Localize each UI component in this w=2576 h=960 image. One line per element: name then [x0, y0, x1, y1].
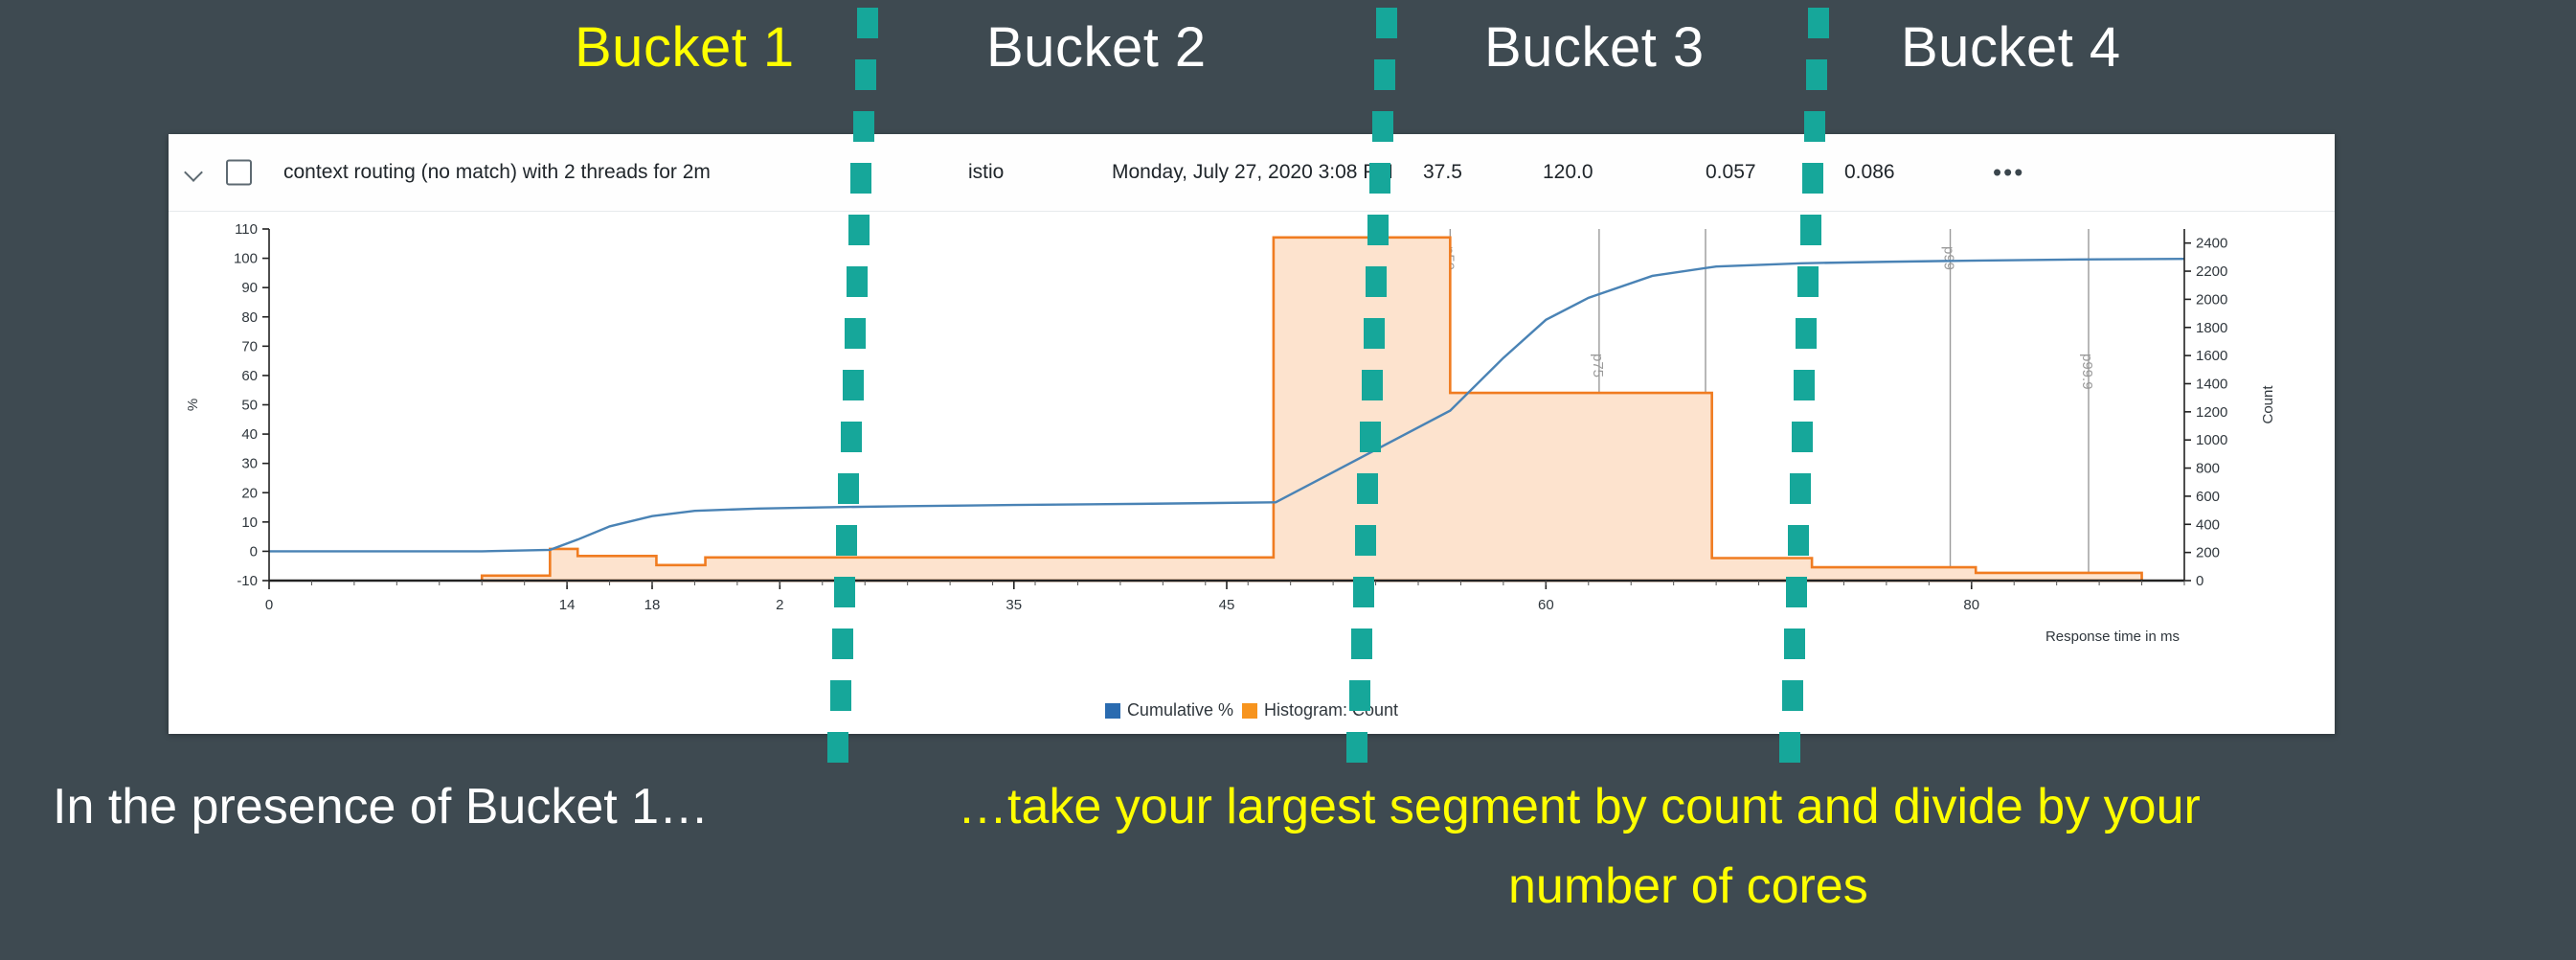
metric-value-3: 0.057 — [1706, 161, 1756, 184]
y-tick-label-left: 100 — [234, 251, 258, 267]
run-tag: istio — [968, 161, 1004, 184]
bucket-label-2: Bucket 2 — [986, 15, 1207, 80]
y-tick-label-right: 400 — [2196, 516, 2220, 533]
y-tick-label-right: 1200 — [2196, 404, 2227, 421]
y-tick-label-right: 2200 — [2196, 263, 2227, 280]
x-tick-label: 18 — [644, 597, 661, 613]
legend-label-cumulative: Cumulative % — [1127, 700, 1233, 720]
percentile-label: p99.9 — [2079, 354, 2095, 390]
x-tick-label: 80 — [1963, 597, 1979, 613]
bucket-label-4: Bucket 4 — [1901, 15, 2121, 80]
y-tick-label-left: 30 — [241, 456, 258, 472]
y-tick-label-left: 60 — [241, 368, 258, 384]
y-tick-label-right: 800 — [2196, 461, 2220, 477]
y-tick-label-left: 0 — [250, 543, 258, 560]
y-axis-title-right: Count — [2260, 385, 2276, 424]
chart-legend: Cumulative % Histogram: Count — [169, 700, 2335, 720]
y-tick-label-left: -10 — [237, 573, 258, 589]
y-tick-label-left: 40 — [241, 426, 258, 443]
chevron-down-icon[interactable] — [185, 162, 206, 183]
x-axis-title: Response time in ms — [2045, 629, 2180, 645]
histogram-area — [482, 238, 2141, 581]
legend-item-histogram: Histogram: Count — [1242, 700, 1398, 720]
legend-swatch-histogram — [1242, 703, 1257, 719]
y-tick-label-right: 200 — [2196, 545, 2220, 561]
y-tick-label-left: 50 — [241, 398, 258, 414]
y-tick-label-left: 90 — [241, 280, 258, 296]
percentile-label: p99 — [1941, 246, 1957, 270]
metric-value-1: 37.5 — [1423, 161, 1462, 184]
x-tick-label: 0 — [265, 597, 273, 613]
legend-swatch-cumulative — [1105, 703, 1120, 719]
table-row[interactable]: context routing (no match) with 2 thread… — [169, 134, 2335, 212]
divider-dash — [827, 732, 848, 763]
caption-right-1: …take your largest segment by count and … — [958, 778, 2201, 835]
legend-label-histogram: Histogram: Count — [1264, 700, 1398, 720]
caption-right-2: number of cores — [1508, 857, 1868, 915]
y-tick-label-right: 1400 — [2196, 376, 2227, 392]
y-tick-label-right: 600 — [2196, 489, 2220, 505]
divider-dash — [1779, 732, 1800, 763]
metric-value-2: 120.0 — [1543, 161, 1593, 184]
row-overflow-menu-icon[interactable]: ••• — [1993, 158, 2024, 188]
x-tick-label: 2 — [776, 597, 783, 613]
y-axis-title-left: % — [185, 399, 201, 411]
caption-left: In the presence of Bucket 1… — [53, 778, 709, 835]
y-tick-label-left: 80 — [241, 309, 258, 326]
cumulative-line — [269, 259, 2184, 551]
percentile-label: p75 — [1590, 354, 1606, 377]
y-tick-label-right: 1000 — [2196, 432, 2227, 448]
run-name: context routing (no match) with 2 thread… — [283, 161, 711, 184]
chart-svg: p50p75p90p99p99.9-1001020304050607080901… — [169, 212, 2335, 734]
x-tick-label: 35 — [1006, 597, 1022, 613]
x-tick-label: 45 — [1219, 597, 1235, 613]
bucket-label-row: Bucket 1 Bucket 2 Bucket 3 Bucket 4 — [0, 0, 2576, 115]
y-tick-label-left: 70 — [241, 338, 258, 354]
row-checkbox[interactable] — [226, 160, 252, 186]
y-tick-label-right: 1800 — [2196, 320, 2227, 336]
metric-value-4: 0.086 — [1844, 161, 1895, 184]
x-tick-label: 60 — [1538, 597, 1554, 613]
result-card: context routing (no match) with 2 thread… — [169, 134, 2335, 733]
bucket-label-3: Bucket 3 — [1484, 15, 1705, 80]
y-tick-label-left: 20 — [241, 485, 258, 501]
y-tick-label-left: 10 — [241, 514, 258, 531]
y-tick-label-right: 1600 — [2196, 348, 2227, 364]
histogram-chart: p50p75p90p99p99.9-1001020304050607080901… — [169, 212, 2335, 734]
y-tick-label-left: 110 — [235, 221, 258, 238]
y-tick-label-right: 2000 — [2196, 291, 2227, 308]
y-tick-label-right: 2400 — [2196, 236, 2227, 252]
run-timestamp: Monday, July 27, 2020 3:08 PM — [1112, 161, 1393, 184]
x-tick-label: 14 — [559, 597, 576, 613]
bucket-label-1: Bucket 1 — [575, 15, 795, 80]
y-tick-label-right: 0 — [2196, 573, 2203, 589]
divider-dash — [1346, 732, 1367, 763]
legend-item-cumulative: Cumulative % — [1105, 700, 1233, 720]
